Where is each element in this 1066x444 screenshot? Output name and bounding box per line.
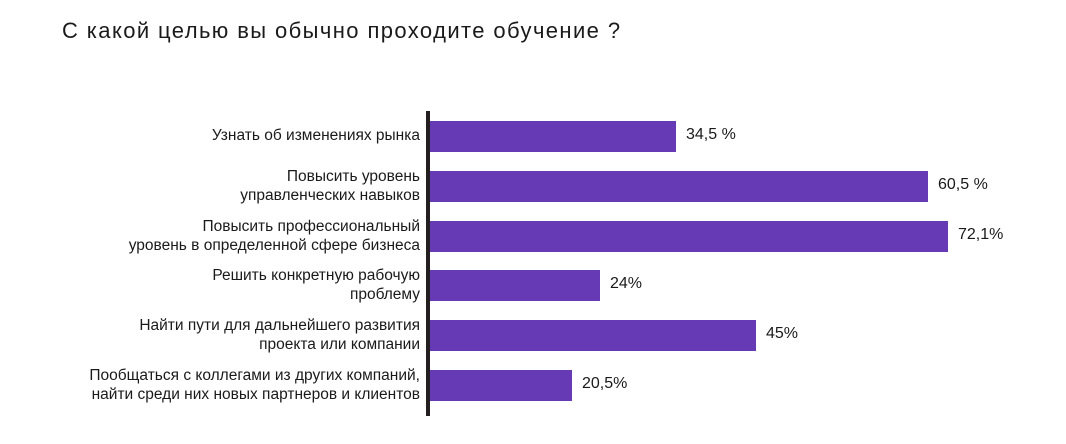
chart-page: С какой целью вы обычно проходите обучен… [0, 0, 1066, 444]
category-label: Найти пути для дальнейшего развития прое… [0, 316, 420, 354]
bar [430, 370, 572, 401]
bar-row: Пообщаться с коллегами из других компани… [0, 370, 1066, 401]
bar [430, 121, 676, 152]
bar-value-label: 34,5 % [686, 126, 736, 144]
bar-value-label: 20,5% [582, 375, 627, 393]
bar [430, 320, 756, 351]
category-label: Пообщаться с коллегами из других компани… [0, 366, 420, 404]
category-label: Узнать об изменениях рынка [0, 126, 420, 145]
category-label: Решить конкретную рабочую проблему [0, 266, 420, 304]
bar-value-label: 45% [766, 325, 798, 343]
bar-row: Повысить уровень управленческих навыков6… [0, 171, 1066, 202]
bar-row: Повысить профессиональный уровень в опре… [0, 221, 1066, 252]
bar [430, 270, 600, 301]
bar-value-label: 24% [610, 275, 642, 293]
category-label: Повысить профессиональный уровень в опре… [0, 217, 420, 255]
bar [430, 221, 948, 252]
bar-row: Узнать об изменениях рынка34,5 % [0, 121, 1066, 152]
bar-value-label: 72,1% [958, 226, 1003, 244]
bar [430, 171, 928, 202]
bar-row: Решить конкретную рабочую проблему24% [0, 270, 1066, 301]
bar-value-label: 60,5 % [938, 176, 988, 194]
bar-row: Найти пути для дальнейшего развития прое… [0, 320, 1066, 351]
category-label: Повысить уровень управленческих навыков [0, 167, 420, 205]
bar-chart-plot-area: Узнать об изменениях рынка34,5 %Повысить… [0, 0, 1066, 444]
